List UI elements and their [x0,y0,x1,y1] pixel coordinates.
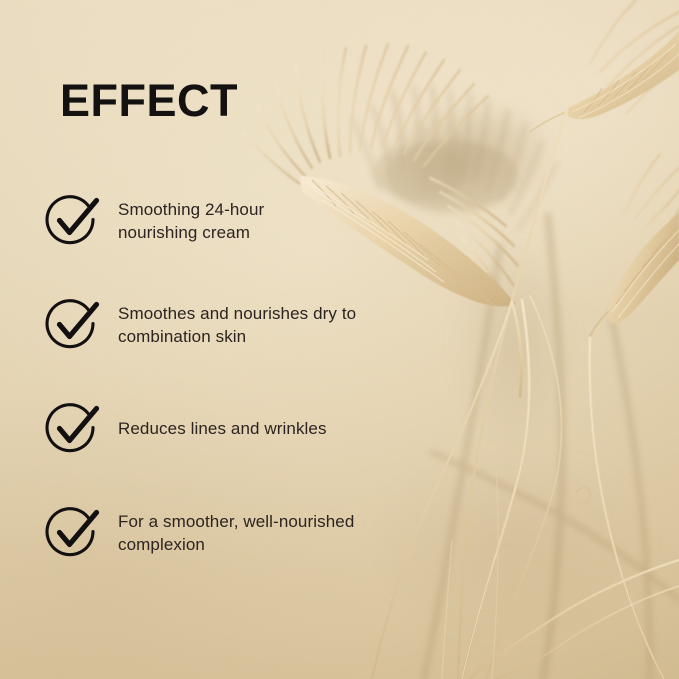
benefits-list: Smoothing 24-hour nourishing cream Smoot… [44,190,464,564]
list-item-label: Smoothing 24-hour nourishing cream [118,198,264,245]
list-item: For a smoother, well-nourished complexio… [44,502,464,564]
check-circle-icon [44,296,102,354]
list-item: Reduces lines and wrinkles [44,398,464,460]
list-item-label: For a smoother, well-nourished complexio… [118,510,354,557]
page-title: EFFECT [60,78,238,123]
list-item: Smoothes and nourishes dry to combinatio… [44,294,464,356]
list-item-label: Smoothes and nourishes dry to combinatio… [118,302,356,349]
check-circle-icon [44,192,102,250]
content-overlay: EFFECT Smoothing 24-hour nourishing crea… [0,0,679,679]
check-circle-icon [44,400,102,458]
list-item-label: Reduces lines and wrinkles [118,417,327,440]
check-circle-icon [44,504,102,562]
product-benefits-poster: EFFECT Smoothing 24-hour nourishing crea… [0,0,679,679]
list-item: Smoothing 24-hour nourishing cream [44,190,464,252]
